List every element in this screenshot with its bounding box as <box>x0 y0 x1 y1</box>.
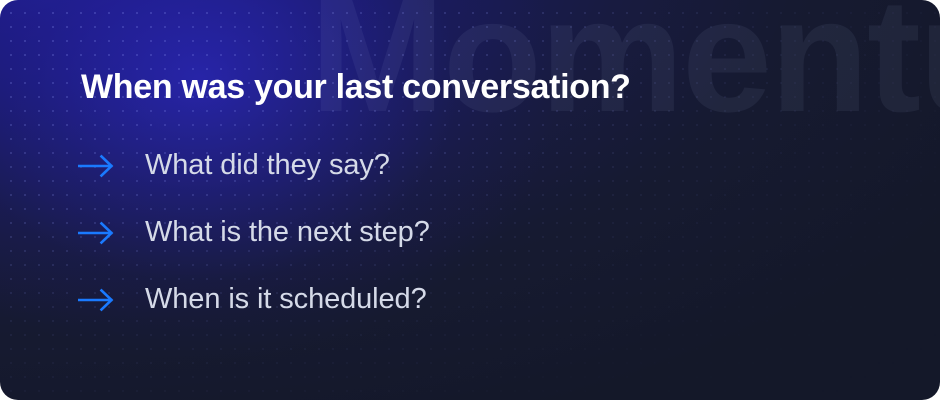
page-title: When was your last conversation? <box>81 68 631 107</box>
prompt-card: Momentum When was your last conversation… <box>0 0 940 400</box>
list-item-label: What is the next step? <box>145 216 430 249</box>
prompt-list: What did they say? What is the next step… <box>78 145 430 320</box>
arrow-right-icon <box>78 287 118 313</box>
list-item[interactable]: When is it scheduled? <box>78 279 430 320</box>
arrow-right-icon <box>78 153 118 179</box>
list-item-label: What did they say? <box>145 149 390 182</box>
list-item-label: When is it scheduled? <box>145 283 427 316</box>
list-item[interactable]: What is the next step? <box>78 212 430 253</box>
list-item[interactable]: What did they say? <box>78 145 430 186</box>
card-content: When was your last conversation? What di… <box>0 0 940 400</box>
arrow-right-icon <box>78 220 118 246</box>
